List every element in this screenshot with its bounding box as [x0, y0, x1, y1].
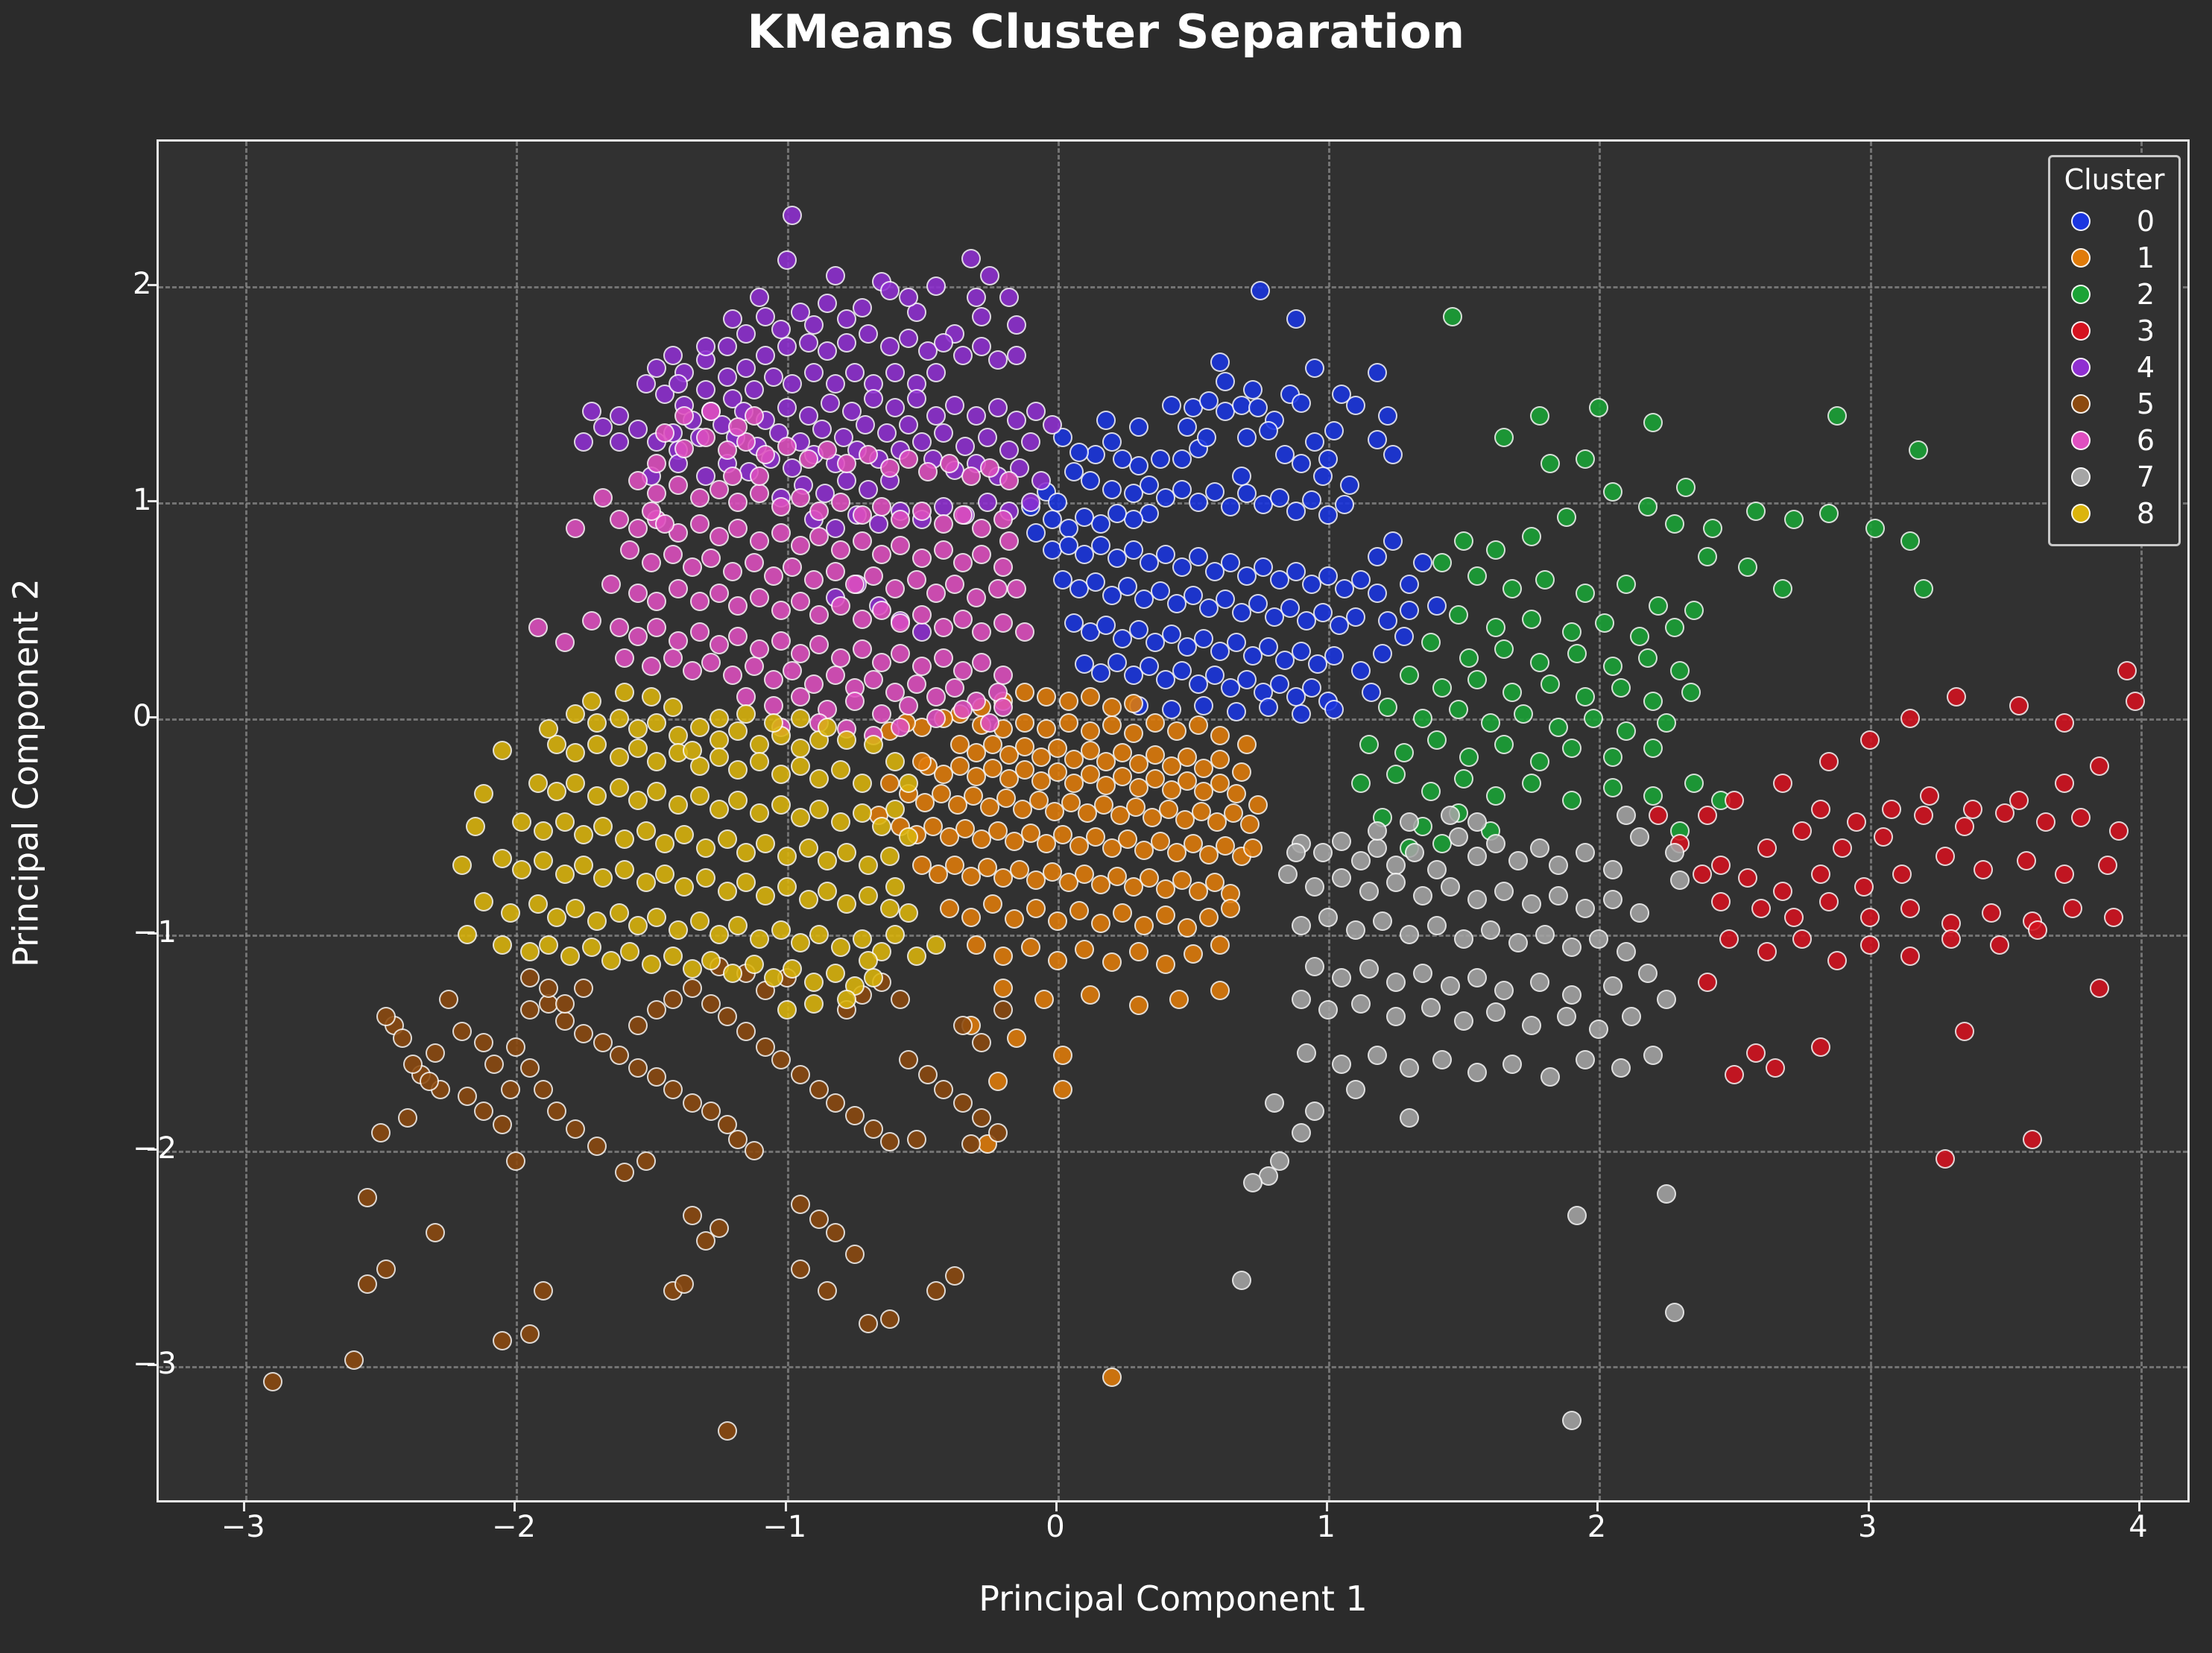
scatter-point-cluster-6	[853, 531, 872, 551]
scatter-point-cluster-8	[791, 808, 810, 827]
scatter-point-cluster-0	[1292, 704, 1311, 724]
scatter-point-cluster-7	[1467, 847, 1487, 866]
scatter-point-cluster-1	[1210, 935, 1230, 955]
scatter-point-cluster-8	[610, 903, 629, 923]
scatter-point-cluster-2	[1738, 557, 1757, 577]
scatter-point-cluster-3	[1955, 1022, 1974, 1041]
scatter-point-cluster-6	[620, 540, 639, 560]
scatter-point-cluster-2	[1617, 575, 1636, 594]
scatter-point-cluster-5	[647, 1067, 666, 1087]
scatter-point-cluster-1	[1091, 914, 1110, 933]
scatter-point-cluster-5	[845, 1245, 865, 1264]
scatter-point-cluster-1	[988, 1072, 1008, 1091]
scatter-point-cluster-2	[1421, 633, 1441, 652]
scatter-point-cluster-8	[728, 760, 748, 780]
scatter-point-cluster-8	[574, 825, 593, 844]
scatter-point-cluster-7	[1400, 1058, 1419, 1078]
scatter-point-cluster-0	[1237, 428, 1257, 447]
scatter-point-cluster-6	[791, 592, 810, 611]
scatter-point-cluster-0	[1043, 510, 1062, 529]
scatter-point-cluster-8	[663, 698, 683, 717]
scatter-point-cluster-8	[809, 769, 829, 788]
scatter-point-cluster-1	[1015, 683, 1034, 702]
scatter-point-cluster-6	[690, 622, 710, 642]
scatter-point-cluster-0	[1383, 531, 1403, 551]
scatter-point-cluster-5	[683, 1093, 702, 1113]
scatter-point-cluster-8	[610, 778, 629, 797]
scatter-point-cluster-7	[1243, 1173, 1263, 1192]
scatter-point-cluster-8	[750, 929, 769, 949]
scatter-point-cluster-2	[1603, 778, 1622, 797]
scatter-point-cluster-7	[1297, 1043, 1316, 1063]
scatter-point-cluster-5	[993, 1000, 1013, 1020]
scatter-point-cluster-6	[628, 519, 648, 538]
page-title: KMeans Cluster Separation	[0, 4, 2212, 60]
scatter-point-cluster-8	[669, 920, 688, 940]
scatter-point-cluster-0	[1140, 475, 1159, 495]
scatter-point-cluster-2	[1698, 547, 1717, 566]
scatter-point-cluster-1	[940, 899, 959, 918]
scatter-point-cluster-6	[647, 484, 666, 503]
scatter-point-cluster-2	[1351, 774, 1371, 793]
legend-entry-3[interactable]: 3	[2061, 313, 2168, 350]
scatter-point-cluster-5	[864, 1119, 883, 1139]
scatter-point-cluster-8	[701, 951, 721, 970]
scatter-point-cluster-5	[493, 1331, 512, 1350]
scatter-point-cluster-6	[809, 527, 829, 546]
scatter-point-cluster-0	[1362, 683, 1381, 702]
scatter-point-cluster-5	[426, 1223, 445, 1242]
scatter-point-cluster-6	[728, 519, 748, 538]
scatter-point-cluster-8	[636, 821, 656, 841]
scatter-point-cluster-5	[845, 1106, 865, 1125]
scatter-point-cluster-2	[1914, 579, 1933, 598]
scatter-point-cluster-7	[1400, 1108, 1419, 1128]
scatter-point-cluster-8	[859, 886, 878, 905]
scatter-point-cluster-8	[728, 916, 748, 935]
scatter-point-cluster-3	[2090, 979, 2109, 998]
scatter-point-cluster-8	[647, 782, 666, 801]
scatter-point-cluster-7	[1413, 964, 1432, 983]
scatter-point-cluster-7	[1286, 843, 1306, 862]
scatter-point-cluster-6	[809, 635, 829, 654]
scatter-point-cluster-2	[1595, 613, 1614, 633]
scatter-point-cluster-2	[1630, 627, 1649, 646]
scatter-point-cluster-3	[1833, 838, 1852, 858]
scatter-point-cluster-0	[1227, 633, 1246, 652]
scatter-point-cluster-1	[1081, 985, 1100, 1005]
scatter-point-cluster-8	[718, 882, 737, 901]
scatter-point-cluster-2	[1603, 482, 1622, 502]
scatter-point-cluster-8	[647, 713, 666, 733]
scatter-point-cluster-2	[1486, 618, 1505, 637]
scatter-point-cluster-5	[826, 1093, 845, 1113]
scatter-point-cluster-6	[750, 588, 769, 607]
scatter-point-cluster-1	[1210, 726, 1230, 745]
scatter-point-cluster-0	[1081, 471, 1100, 490]
scatter-point-cluster-8	[593, 868, 613, 888]
scatter-point-cluster-7	[1265, 1093, 1284, 1113]
scatter-point-cluster-8	[528, 894, 548, 914]
scatter-point-cluster-4	[1007, 346, 1026, 365]
scatter-point-cluster-6	[899, 449, 918, 469]
scatter-point-cluster-0	[1259, 698, 1278, 717]
scatter-point-cluster-2	[1514, 704, 1533, 724]
scatter-point-cluster-4	[978, 493, 997, 512]
scatter-point-cluster-6	[859, 445, 878, 464]
scatter-point-cluster-0	[1251, 281, 1270, 300]
scatter-point-cluster-6	[610, 618, 629, 637]
scatter-point-cluster-7	[1467, 1063, 1487, 1082]
scatter-point-cluster-8	[791, 933, 810, 952]
scatter-point-cluster-8	[566, 899, 585, 918]
scatter-point-cluster-6	[953, 700, 973, 719]
scatter-point-cluster-6	[690, 514, 710, 534]
legend-entry-8[interactable]: 8	[2061, 496, 2168, 532]
scatter-point-cluster-0	[1086, 445, 1105, 464]
scatter-point-cluster-8	[474, 892, 493, 911]
scatter-point-cluster-5	[534, 1281, 553, 1300]
scatter-point-cluster-4	[818, 294, 837, 313]
x-tick-label: 0	[1046, 1510, 1064, 1544]
scatter-point-cluster-0	[1162, 625, 1181, 644]
scatter-point-cluster-2	[1643, 786, 1663, 806]
scatter-point-cluster-8	[647, 752, 666, 771]
scatter-point-cluster-3	[1920, 786, 1939, 806]
scatter-point-cluster-8	[750, 752, 769, 771]
scatter-point-cluster-8	[555, 865, 575, 884]
scatter-point-cluster-6	[845, 692, 865, 711]
scatter-point-cluster-5	[358, 1274, 377, 1294]
legend-title: Cluster	[2061, 165, 2168, 196]
scatter-point-cluster-6	[907, 674, 926, 694]
scatter-point-cluster-7	[1386, 856, 1406, 875]
scatter-point-cluster-2	[1486, 786, 1505, 806]
scatter-point-cluster-6	[891, 613, 910, 633]
scatter-point-cluster-6	[891, 536, 910, 555]
scatter-point-cluster-6	[940, 454, 959, 473]
scatter-point-cluster-6	[826, 666, 845, 685]
scatter-point-cluster-6	[566, 519, 585, 538]
scatter-point-cluster-3	[1995, 803, 2014, 823]
scatter-point-cluster-8	[853, 929, 872, 949]
scatter-point-cluster-6	[723, 467, 742, 486]
scatter-point-cluster-1	[1248, 795, 1268, 815]
scatter-point-cluster-6	[642, 657, 661, 676]
scatter-point-cluster-2	[1638, 648, 1658, 668]
scatter-point-cluster-5	[376, 1007, 396, 1026]
scatter-point-cluster-0	[1368, 363, 1387, 382]
scatter-point-cluster-3	[1725, 1065, 1744, 1084]
scatter-point-cluster-6	[934, 618, 953, 637]
scatter-point-cluster-7	[1373, 911, 1392, 931]
scatter-point-cluster-2	[1557, 508, 1576, 527]
scatter-point-cluster-4	[877, 423, 897, 443]
scatter-point-cluster-6	[945, 678, 964, 698]
scatter-point-cluster-2	[1589, 398, 1608, 417]
scatter-point-cluster-2	[1827, 406, 1847, 426]
legend-entry-2[interactable]: 2	[2061, 276, 2168, 313]
scatter-point-cluster-3	[1751, 899, 1771, 918]
scatter-point-cluster-8	[636, 873, 656, 892]
scatter-point-cluster-7	[1432, 1050, 1452, 1069]
scatter-point-cluster-0	[1259, 637, 1278, 657]
scatter-point-cluster-1	[1134, 916, 1154, 935]
scatter-point-cluster-6	[967, 588, 986, 607]
scatter-point-cluster-8	[458, 925, 477, 944]
scatter-point-cluster-8	[642, 955, 661, 974]
legend-entry-0[interactable]: 0	[2061, 203, 2168, 240]
legend-swatch-icon	[2071, 504, 2091, 523]
scatter-point-cluster-7	[1603, 860, 1622, 879]
scatter-point-cluster-8	[587, 911, 607, 931]
scatter-point-cluster-8	[907, 946, 926, 966]
scatter-point-cluster-8	[539, 935, 558, 955]
scatter-point-cluster-0	[1368, 584, 1387, 603]
scatter-point-cluster-5	[718, 1007, 737, 1026]
scatter-point-cluster-4	[999, 288, 1019, 307]
scatter-point-cluster-7	[1657, 990, 1676, 1009]
scatter-point-cluster-6	[831, 648, 850, 668]
scatter-point-cluster-1	[880, 774, 900, 793]
scatter-point-cluster-5	[574, 979, 593, 998]
scatter-point-cluster-4	[812, 420, 832, 439]
scatter-point-cluster-5	[484, 1055, 504, 1074]
scatter-point-cluster-0	[1194, 696, 1213, 715]
legend-swatch-icon	[2071, 394, 2091, 414]
scatter-point-cluster-8	[791, 756, 810, 776]
scatter-point-cluster-7	[1278, 865, 1298, 884]
scatter-point-cluster-7	[1603, 890, 1622, 909]
scatter-point-cluster-4	[826, 519, 845, 538]
scatter-point-cluster-6	[972, 653, 991, 672]
scatter-point-cluster-7	[1576, 1050, 1595, 1069]
scatter-point-cluster-7	[1386, 973, 1406, 992]
scatter-point-cluster-8	[512, 860, 531, 879]
scatter-point-cluster-4	[859, 324, 878, 344]
scatter-point-cluster-2	[1481, 713, 1500, 733]
scatter-point-cluster-8	[885, 925, 905, 944]
scatter-point-cluster-3	[1900, 946, 1920, 966]
scatter-point-cluster-4	[885, 398, 905, 417]
scatter-point-cluster-1	[1102, 715, 1122, 735]
scatter-point-cluster-2	[1909, 440, 1928, 460]
scatter-point-cluster-3	[1711, 856, 1731, 875]
scatter-point-cluster-4	[869, 514, 888, 534]
scatter-point-cluster-4	[978, 428, 997, 447]
scatter-point-cluster-4	[736, 324, 756, 344]
scatter-point-cluster-2	[1530, 406, 1549, 426]
scatter-point-cluster-4	[999, 440, 1019, 460]
scatter-point-cluster-7	[1643, 1046, 1663, 1065]
scatter-point-cluster-2	[1502, 579, 1522, 598]
scatter-point-cluster-6	[891, 510, 910, 529]
scatter-point-cluster-6	[647, 454, 666, 473]
scatter-point-cluster-6	[690, 488, 710, 508]
scatter-point-cluster-7	[1368, 821, 1387, 841]
scatter-point-cluster-7	[1421, 998, 1441, 1017]
scatter-point-cluster-7	[1386, 873, 1406, 892]
scatter-point-cluster-6	[674, 406, 694, 426]
scatter-point-cluster-1	[1169, 990, 1189, 1009]
scatter-point-cluster-8	[728, 791, 748, 810]
legend-entry-4[interactable]: 4	[2061, 350, 2168, 386]
scatter-point-cluster-3	[2028, 920, 2047, 940]
scatter-point-cluster-3	[1847, 812, 1866, 832]
scatter-point-cluster-5	[701, 994, 721, 1014]
scatter-point-cluster-2	[1865, 519, 1885, 538]
scatter-point-cluster-0	[1302, 678, 1321, 698]
scatter-point-cluster-7	[1481, 920, 1500, 940]
scatter-point-cluster-5	[520, 1058, 540, 1078]
plot-area	[157, 139, 2190, 1502]
scatter-point-cluster-2	[1378, 698, 1397, 717]
scatter-point-cluster-6	[710, 527, 729, 546]
scatter-point-cluster-3	[1811, 865, 1830, 884]
scatter-point-cluster-8	[696, 868, 715, 888]
scatter-point-cluster-5	[880, 1132, 900, 1151]
scatter-point-cluster-8	[512, 812, 531, 832]
scatter-point-cluster-5	[420, 1072, 439, 1091]
scatter-point-cluster-1	[1124, 694, 1143, 713]
scatter-point-cluster-1	[1240, 815, 1260, 834]
scatter-point-cluster-7	[1413, 886, 1432, 905]
scatter-point-cluster-0	[1172, 449, 1192, 469]
scatter-point-cluster-8	[555, 812, 575, 832]
scatter-point-cluster-5	[791, 1195, 810, 1214]
scatter-point-cluster-8	[818, 882, 837, 901]
scatter-point-cluster-7	[1427, 916, 1447, 935]
scatter-point-cluster-0	[1086, 572, 1105, 592]
scatter-point-cluster-5	[610, 1046, 629, 1065]
scatter-point-cluster-4	[826, 266, 845, 285]
scatter-point-cluster-0	[1172, 480, 1192, 499]
scatter-point-cluster-6	[837, 454, 856, 473]
scatter-point-cluster-8	[818, 851, 837, 870]
scatter-point-cluster-0	[1069, 443, 1089, 462]
scatter-point-cluster-7	[1427, 860, 1447, 879]
scatter-point-cluster-3	[1947, 687, 1966, 707]
scatter-point-cluster-4	[934, 333, 953, 353]
scatter-point-cluster-6	[701, 653, 721, 672]
scatter-point-cluster-4	[804, 363, 824, 382]
scatter-point-cluster-3	[1711, 892, 1731, 911]
scatter-point-cluster-8	[885, 877, 905, 897]
scatter-point-cluster-8	[771, 920, 791, 940]
scatter-point-cluster-2	[1562, 791, 1581, 810]
scatter-point-cluster-3	[2104, 908, 2123, 927]
scatter-point-cluster-6	[872, 704, 891, 724]
scatter-point-cluster-6	[764, 566, 783, 586]
legend-entry-7[interactable]: 7	[2061, 459, 2168, 496]
scatter-point-cluster-2	[1459, 648, 1479, 668]
scatter-point-cluster-0	[1313, 467, 1333, 486]
scatter-point-cluster-4	[777, 250, 797, 270]
scatter-point-cluster-5	[555, 1011, 575, 1031]
scatter-point-cluster-2	[1486, 540, 1505, 560]
scatter-point-cluster-0	[1237, 670, 1257, 689]
scatter-point-cluster-7	[1318, 908, 1338, 927]
scatter-point-cluster-6	[934, 514, 953, 534]
scatter-point-cluster-0	[1324, 646, 1344, 666]
y-tick-label: −2	[133, 1131, 177, 1166]
scatter-point-cluster-3	[1819, 892, 1839, 911]
scatter-point-cluster-1	[1243, 838, 1263, 858]
scatter-point-cluster-0	[1194, 629, 1213, 648]
scatter-point-cluster-2	[1454, 531, 1473, 551]
scatter-point-cluster-7	[1386, 1007, 1406, 1026]
scatter-point-cluster-0	[1026, 523, 1046, 543]
scatter-point-cluster-8	[771, 795, 791, 815]
scatter-point-cluster-8	[615, 829, 634, 849]
legend-entry-6[interactable]: 6	[2061, 423, 2168, 459]
scatter-point-cluster-0	[1205, 482, 1224, 502]
scatter-point-cluster-7	[1522, 894, 1541, 914]
scatter-point-cluster-8	[566, 774, 585, 793]
scatter-point-cluster-8	[587, 786, 607, 806]
scatter-point-cluster-0	[1189, 547, 1208, 566]
scatter-point-cluster-8	[777, 847, 797, 866]
scatter-point-cluster-6	[907, 570, 926, 590]
scatter-point-cluster-6	[891, 644, 910, 663]
scatter-point-cluster-8	[783, 959, 802, 979]
scatter-point-cluster-3	[1757, 838, 1777, 858]
scatter-point-cluster-0	[1096, 411, 1116, 430]
scatter-point-cluster-5	[574, 1024, 593, 1043]
scatter-point-cluster-2	[1638, 497, 1658, 516]
scatter-point-cluster-4	[1007, 315, 1026, 335]
scatter-point-cluster-3	[1990, 935, 2009, 955]
scatter-point-cluster-0	[1400, 601, 1419, 620]
scatter-point-cluster-0	[1259, 421, 1278, 440]
legend-entry-5[interactable]: 5	[2061, 386, 2168, 423]
scatter-point-cluster-1	[1059, 692, 1078, 711]
scatter-point-cluster-8	[710, 800, 729, 819]
scatter-point-cluster-1	[1178, 918, 1197, 938]
scatter-point-cluster-1	[1081, 687, 1100, 707]
scatter-point-cluster-7	[1332, 1055, 1351, 1074]
scatter-point-cluster-5	[520, 1000, 540, 1020]
scatter-point-cluster-7	[1522, 1016, 1541, 1035]
legend-entry-1[interactable]: 1	[2061, 240, 2168, 276]
scatter-point-cluster-6	[528, 618, 548, 637]
scatter-point-cluster-4	[899, 288, 918, 307]
scatter-point-cluster-6	[615, 648, 634, 668]
scatter-point-cluster-8	[718, 829, 737, 849]
x-tick-label: 1	[1317, 1510, 1336, 1544]
scatter-point-cluster-6	[809, 605, 829, 625]
scatter-point-cluster-3	[2017, 851, 2036, 870]
x-axis-label: Principal Component 1	[157, 1578, 2190, 1619]
scatter-point-cluster-0	[1305, 432, 1324, 452]
scatter-point-cluster-8	[615, 683, 634, 702]
scatter-point-cluster-5	[663, 1080, 683, 1099]
scatter-point-cluster-7	[1589, 1020, 1608, 1039]
scatter-point-cluster-8	[880, 899, 900, 918]
scatter-point-cluster-8	[493, 935, 512, 955]
scatter-point-cluster-0	[1351, 661, 1371, 680]
scatter-point-cluster-1	[1210, 750, 1230, 769]
scatter-point-cluster-0	[1383, 445, 1403, 464]
scatter-point-cluster-4	[880, 281, 900, 300]
scatter-point-cluster-8	[466, 817, 485, 836]
scatter-point-cluster-3	[2055, 865, 2074, 884]
scatter-point-cluster-6	[628, 584, 648, 603]
scatter-point-cluster-6	[926, 709, 946, 728]
scatter-point-cluster-4	[934, 497, 953, 516]
scatter-point-cluster-4	[907, 389, 926, 408]
y-tick-label: 1	[133, 483, 151, 517]
